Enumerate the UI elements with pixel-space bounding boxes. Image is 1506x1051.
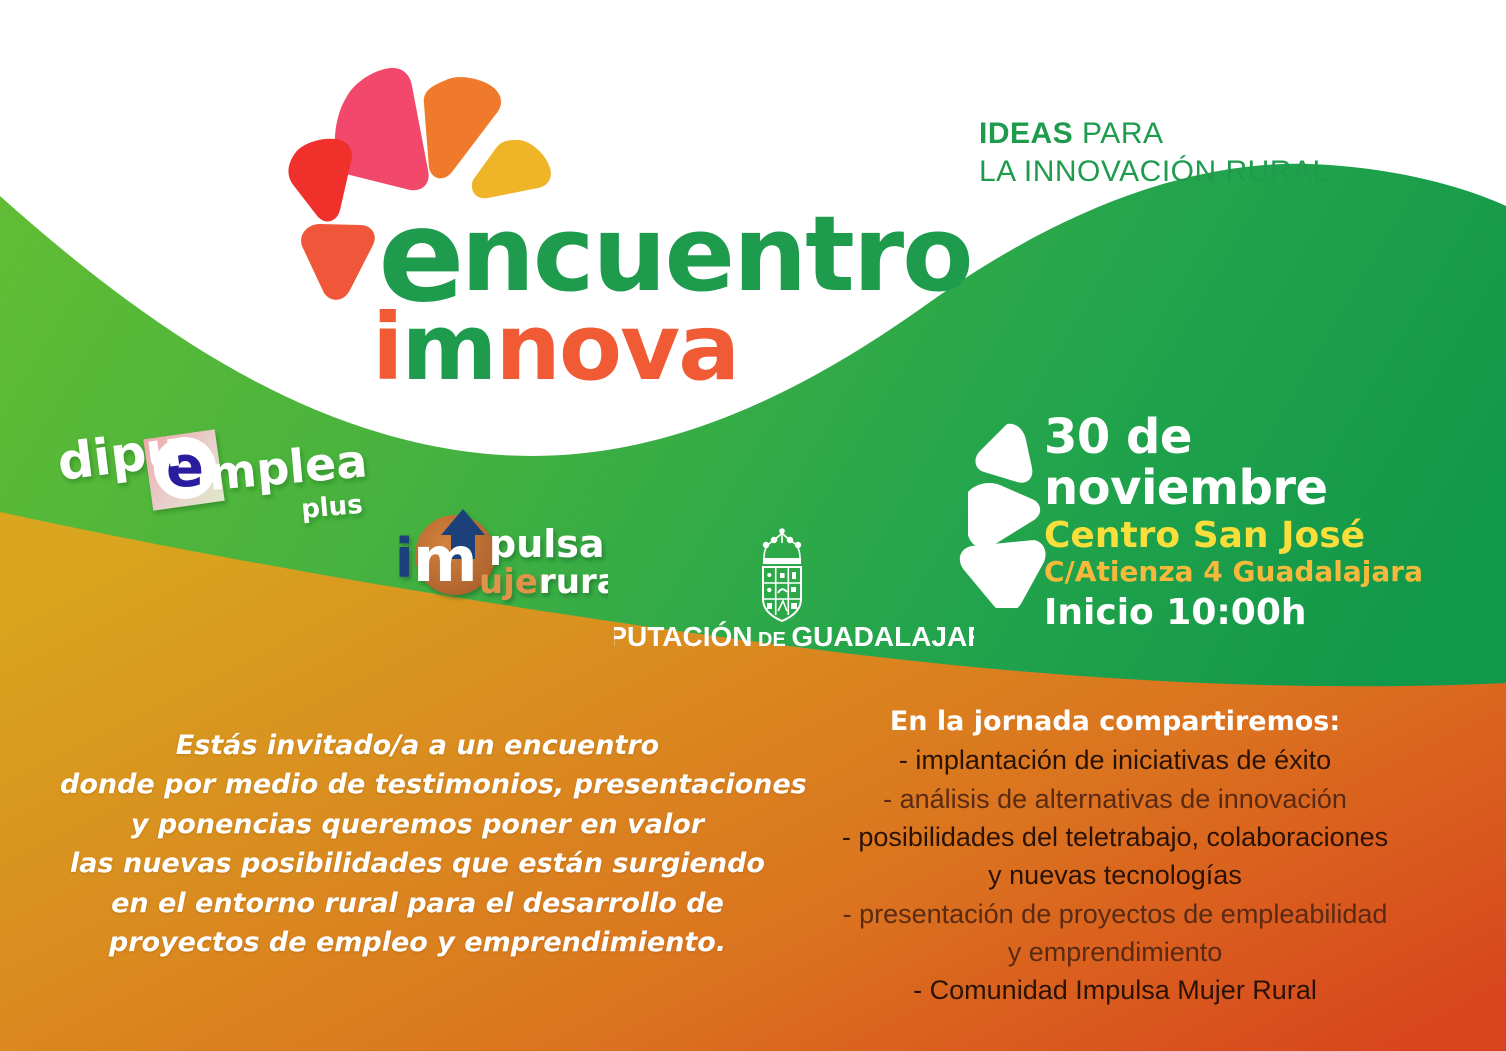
event-date: 30 de noviembre [1044,412,1474,514]
diputacion-text: DIPUTACIÓN DE GUADALAJARA [614,621,974,652]
diputacion-guadalajara-logo[interactable]: DIPUTACIÓN DE GUADALAJARA [614,527,974,652]
diputacion-word: DIPUTACIÓN [614,621,753,652]
wordmark-imnova-i: i [372,294,402,401]
event-venue: Centro San José [1044,516,1474,556]
petal-red [288,139,351,222]
impulsa-mujer-rural-logo[interactable]: i m pulsa ujer rural [383,505,608,605]
poster-canvas: encuentro imnova IDEAS PARA LA INNOVACIÓ… [0,0,1506,1051]
tagline-para: PARA [1073,117,1163,150]
wordmark-imnova: imnova [372,302,738,394]
agenda-item: - implantación de iniciativas de éxito [790,741,1440,779]
petal-top [975,424,1032,483]
wordmark-imnova-nova: nova [495,294,738,401]
invitation-text: Estás invitado/a a un encuentro donde po… [60,726,775,962]
wordmark-encuentro: encuentro [378,202,972,306]
impulsa-text-rural: rural [539,562,608,602]
invitation-line: proyectos de empleo y emprendimiento. [60,923,775,962]
petal-middle [968,483,1040,548]
guadalajara-word: GUADALAJARA [791,621,974,652]
event-text-group: 30 de noviembre Centro San José C/Atienz… [1044,412,1474,635]
tagline: IDEAS PARA LA INNOVACIÓN RURAL [979,115,1330,192]
petal-tomato [301,224,375,300]
agenda-item: - presentación de proyectos de empleabil… [790,895,1440,933]
invitation-line: las nuevas posibilidades que están surgi… [60,844,775,883]
wordmark-imnova-m: m [402,294,496,401]
tagline-line-2: LA INNOVACIÓN RURAL [979,153,1330,191]
invitation-line: Estás invitado/a a un encuentro [60,726,775,765]
dipuemplea-plus-logo[interactable]: e dipu mplea plus [52,418,382,528]
agenda-item: - Comunidad Impulsa Mujer Rural [790,971,1440,1009]
petal-amber [472,140,551,198]
agenda-item: y emprendimiento [790,933,1440,971]
invitation-line: y ponencias queremos poner en valor [60,805,775,844]
diputacion-de: DE [753,629,792,651]
crowned-shield-icon [763,529,801,621]
impulsa-mark-m: m [413,523,478,596]
tagline-line-1: IDEAS PARA [979,115,1330,153]
petal-pink [335,68,429,190]
encuentro-imnova-logo: encuentro imnova [282,52,942,362]
impulsa-text-pulsa: pulsa [489,522,605,566]
event-address: C/Atienza 4 Guadalajara [1044,556,1474,587]
agenda-title: En la jornada compartiremos: [790,703,1440,741]
agenda-item: - análisis de alternativas de innovación [790,780,1440,818]
dipuemplea-suffix: plus [300,490,364,525]
agenda-list: En la jornada compartiremos: - implantac… [790,703,1440,1010]
invitation-line: donde por medio de testimonios, presenta… [60,765,775,804]
tagline-ideas: IDEAS [979,117,1073,150]
event-time: Inicio 10:00h [1044,591,1474,634]
invitation-line: en el entorno rural para el desarrollo d… [60,884,775,923]
agenda-item: - posibilidades del teletrabajo, colabor… [790,818,1440,856]
agenda-item: y nuevas tecnologías [790,856,1440,894]
impulsa-mark-im: i [395,527,414,590]
